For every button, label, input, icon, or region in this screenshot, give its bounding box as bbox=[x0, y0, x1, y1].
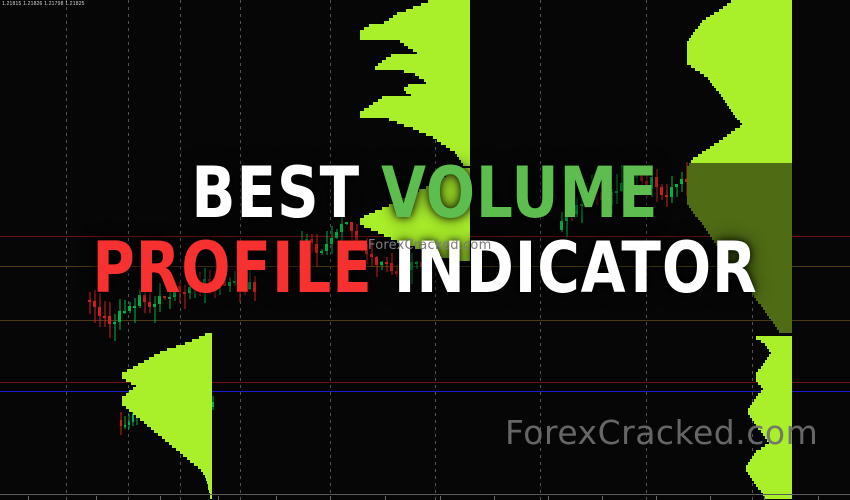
candlestick bbox=[153, 296, 156, 322]
candle-wick bbox=[114, 314, 115, 340]
candlestick bbox=[630, 169, 633, 195]
candle-body bbox=[375, 257, 378, 264]
candle-body bbox=[113, 322, 116, 324]
candle-body bbox=[183, 292, 186, 294]
profile-bar bbox=[463, 162, 470, 166]
candle-body bbox=[320, 251, 323, 253]
candle-wick bbox=[244, 277, 245, 295]
axis-tick bbox=[440, 496, 441, 500]
candlestick bbox=[118, 299, 121, 330]
candle-body bbox=[88, 300, 91, 302]
candlestick bbox=[420, 252, 423, 279]
candlestick bbox=[605, 199, 608, 217]
candlestick bbox=[570, 208, 573, 220]
candle-body bbox=[600, 192, 603, 201]
candle-body bbox=[410, 262, 413, 270]
axis-tick bbox=[96, 496, 97, 500]
candlestick bbox=[218, 280, 221, 295]
candle-body bbox=[153, 304, 156, 306]
candle-body bbox=[158, 296, 161, 304]
candle-body bbox=[380, 262, 383, 264]
candlestick bbox=[223, 279, 226, 286]
candlestick bbox=[675, 184, 678, 197]
candle-body bbox=[655, 177, 658, 187]
watermark-large: ForexCracked.com bbox=[505, 413, 818, 452]
candlestick bbox=[213, 271, 216, 298]
candle-wick bbox=[169, 292, 170, 309]
candle-body bbox=[390, 263, 393, 271]
candle-body bbox=[133, 306, 136, 308]
candlestick bbox=[410, 253, 413, 284]
axis-tick bbox=[330, 496, 331, 500]
candlestick bbox=[620, 165, 623, 192]
candlestick bbox=[640, 172, 643, 185]
candlestick bbox=[360, 240, 363, 252]
candlestick bbox=[228, 277, 231, 292]
axis-tick bbox=[548, 496, 549, 500]
candlestick bbox=[615, 174, 618, 204]
candlestick bbox=[340, 213, 343, 245]
candle-body bbox=[420, 262, 423, 266]
axis-tick bbox=[818, 496, 819, 500]
candle-body bbox=[425, 259, 428, 266]
candle-body bbox=[615, 191, 618, 193]
candle-body bbox=[132, 414, 134, 421]
candlestick bbox=[590, 175, 593, 201]
candle-body bbox=[355, 231, 358, 241]
candle-body bbox=[198, 283, 201, 290]
candlestick bbox=[128, 414, 130, 429]
candle-body bbox=[660, 187, 663, 195]
support-line bbox=[0, 391, 850, 392]
candle-body bbox=[248, 282, 251, 290]
candlestick bbox=[335, 229, 338, 239]
candle-body bbox=[168, 297, 171, 299]
candle-body bbox=[580, 204, 583, 206]
candle-body bbox=[635, 174, 638, 178]
candle-body bbox=[570, 211, 573, 214]
candle-wick bbox=[636, 167, 637, 193]
candlestick bbox=[610, 189, 613, 214]
candle-body bbox=[300, 241, 303, 250]
candle-body bbox=[173, 286, 176, 297]
ohlc-readout: 1.21815 1.21826 1.21798 1.21825 bbox=[2, 1, 85, 7]
candle-body bbox=[315, 244, 318, 253]
candlestick bbox=[635, 167, 638, 193]
candlestick bbox=[665, 184, 668, 207]
candlestick bbox=[320, 249, 323, 255]
candle-body bbox=[310, 239, 313, 244]
candle-body bbox=[665, 195, 668, 197]
candle-body bbox=[575, 205, 578, 214]
candle-wick bbox=[134, 298, 135, 324]
candle-body bbox=[340, 224, 343, 231]
candlestick bbox=[305, 234, 308, 243]
candlestick bbox=[120, 412, 122, 434]
candlestick bbox=[88, 292, 91, 314]
candle-body bbox=[118, 311, 121, 322]
candlestick bbox=[93, 290, 96, 323]
candlestick bbox=[310, 234, 313, 254]
candle-wick bbox=[616, 174, 617, 204]
candlestick bbox=[168, 292, 171, 309]
candlestick bbox=[350, 222, 353, 240]
candlestick bbox=[650, 174, 653, 197]
poc-line-lower bbox=[0, 382, 850, 383]
candlestick bbox=[680, 172, 683, 192]
candle-body bbox=[590, 185, 593, 195]
candle-body bbox=[178, 286, 181, 292]
candlestick bbox=[580, 191, 583, 223]
candlestick bbox=[148, 287, 151, 313]
candle-body bbox=[138, 295, 141, 306]
profile-bar bbox=[779, 329, 792, 333]
candle-body bbox=[335, 232, 338, 238]
candlestick bbox=[385, 257, 388, 271]
candlestick bbox=[198, 272, 201, 296]
candle-body bbox=[213, 283, 216, 288]
candle-body bbox=[124, 425, 126, 427]
candlestick bbox=[103, 301, 106, 327]
candle-body bbox=[330, 238, 333, 244]
candle-body bbox=[680, 179, 683, 185]
candlestick bbox=[158, 283, 161, 312]
candle-body bbox=[148, 302, 151, 307]
candle-body bbox=[640, 174, 643, 181]
candlestick bbox=[565, 204, 568, 236]
candle-body bbox=[233, 281, 236, 283]
candle-body bbox=[123, 311, 126, 313]
candlestick bbox=[113, 314, 116, 340]
candle-body bbox=[650, 177, 653, 189]
candlestick bbox=[660, 184, 663, 200]
candle-body bbox=[163, 296, 166, 298]
trading-chart-screenshot: 1.21815 1.21826 1.21798 1.21825 BEST VOL… bbox=[0, 0, 850, 500]
candlestick bbox=[560, 212, 563, 232]
candle-body bbox=[325, 244, 328, 251]
candle-wick bbox=[194, 275, 195, 299]
candlestick bbox=[425, 259, 428, 280]
candle-body bbox=[400, 274, 403, 277]
candlestick bbox=[645, 172, 648, 197]
candlestick bbox=[243, 277, 246, 295]
axis-tick bbox=[494, 496, 495, 500]
candle-body bbox=[108, 316, 111, 323]
gridline-vertical bbox=[240, 0, 241, 500]
candlestick bbox=[375, 256, 378, 277]
candlestick bbox=[330, 226, 333, 254]
candlestick bbox=[405, 260, 408, 278]
candlestick bbox=[595, 182, 598, 205]
candle-body bbox=[223, 281, 226, 286]
time-axis bbox=[0, 494, 850, 500]
candle-body bbox=[630, 172, 633, 178]
candle-body bbox=[120, 420, 122, 426]
candle-body bbox=[218, 281, 221, 288]
candle-body bbox=[625, 172, 628, 183]
candlestick bbox=[124, 416, 126, 428]
candlestick bbox=[655, 169, 658, 201]
candlestick bbox=[208, 270, 211, 295]
candle-body bbox=[610, 192, 613, 205]
candle-body bbox=[188, 287, 191, 293]
candlestick bbox=[355, 224, 358, 242]
candlestick bbox=[395, 265, 398, 277]
candlestick bbox=[183, 285, 186, 309]
gridline-vertical bbox=[66, 0, 67, 500]
candle-wick bbox=[154, 296, 155, 322]
axis-tick bbox=[385, 496, 386, 500]
candle-body bbox=[395, 271, 398, 274]
candle-wick bbox=[89, 292, 90, 314]
watermark-small: ForexCracked.com bbox=[368, 238, 491, 253]
candle-body bbox=[228, 282, 231, 287]
candlestick bbox=[133, 298, 136, 324]
candle-body bbox=[203, 279, 206, 291]
axis-tick bbox=[160, 496, 161, 500]
candle-body bbox=[128, 422, 130, 426]
candle-body bbox=[385, 262, 388, 264]
candlestick bbox=[203, 268, 206, 303]
candle-body bbox=[212, 402, 214, 407]
axis-tick bbox=[602, 496, 603, 500]
candle-body bbox=[208, 279, 211, 283]
candlestick bbox=[325, 231, 328, 255]
candlestick bbox=[380, 261, 383, 269]
candlestick bbox=[390, 253, 393, 276]
candle-body bbox=[595, 185, 598, 192]
candlestick bbox=[233, 271, 236, 286]
candlestick bbox=[143, 287, 146, 313]
candlestick bbox=[128, 302, 131, 313]
candle-body bbox=[585, 195, 588, 204]
candle-body bbox=[103, 316, 106, 318]
candlestick bbox=[600, 189, 603, 207]
axis-tick bbox=[656, 496, 657, 500]
axis-tick bbox=[218, 496, 219, 500]
candle-wick bbox=[104, 301, 105, 327]
candlestick bbox=[315, 234, 318, 267]
candle-body bbox=[405, 270, 408, 277]
candlestick bbox=[670, 176, 673, 203]
candle-body bbox=[193, 283, 196, 287]
candle-body bbox=[305, 239, 308, 241]
candle-body bbox=[143, 295, 146, 302]
candlestick bbox=[253, 276, 256, 302]
candlestick bbox=[123, 300, 126, 314]
candle-wick bbox=[234, 271, 235, 286]
axis-tick bbox=[28, 496, 29, 500]
candle-body bbox=[670, 187, 673, 197]
candle-wick bbox=[184, 285, 185, 309]
candle-body bbox=[350, 222, 353, 231]
candle-wick bbox=[149, 287, 150, 313]
candle-body bbox=[98, 307, 101, 315]
candle-body bbox=[238, 281, 241, 288]
axis-tick bbox=[764, 496, 765, 500]
candlestick bbox=[345, 222, 348, 225]
candlestick bbox=[98, 293, 101, 327]
candlestick bbox=[415, 261, 418, 268]
candle-body bbox=[645, 181, 648, 189]
candlestick bbox=[238, 277, 241, 303]
candlestick bbox=[625, 169, 628, 195]
candle-body bbox=[253, 282, 256, 292]
candlestick bbox=[188, 278, 191, 300]
candlestick bbox=[212, 396, 214, 410]
candlestick bbox=[400, 267, 403, 283]
profile-bar bbox=[450, 257, 470, 261]
candle-wick bbox=[326, 231, 327, 255]
candle-body bbox=[128, 306, 131, 310]
candle-body bbox=[93, 301, 96, 307]
candlestick bbox=[575, 197, 578, 217]
candlestick bbox=[178, 282, 181, 303]
candlestick bbox=[193, 275, 196, 299]
candle-body bbox=[565, 211, 568, 221]
candle-body bbox=[620, 183, 623, 191]
candle-body bbox=[675, 184, 678, 187]
candle-body bbox=[243, 288, 246, 290]
candle-body bbox=[360, 241, 363, 244]
candlestick bbox=[248, 269, 251, 290]
candle-wick bbox=[386, 257, 387, 271]
axis-tick bbox=[710, 496, 711, 500]
candle-wick bbox=[581, 191, 582, 223]
axis-tick bbox=[276, 496, 277, 500]
candlestick bbox=[173, 283, 176, 301]
candle-body bbox=[370, 254, 373, 257]
candlestick bbox=[138, 290, 141, 308]
candle-body bbox=[560, 221, 563, 230]
candlestick bbox=[585, 183, 588, 206]
value-area-mid-line bbox=[0, 320, 850, 321]
candlestick bbox=[300, 231, 303, 256]
candle-body bbox=[345, 222, 348, 224]
candle-body bbox=[415, 262, 418, 264]
candle-wick bbox=[421, 252, 422, 279]
candle-body bbox=[605, 200, 608, 204]
candlestick bbox=[163, 296, 166, 300]
candlestick bbox=[108, 302, 111, 338]
